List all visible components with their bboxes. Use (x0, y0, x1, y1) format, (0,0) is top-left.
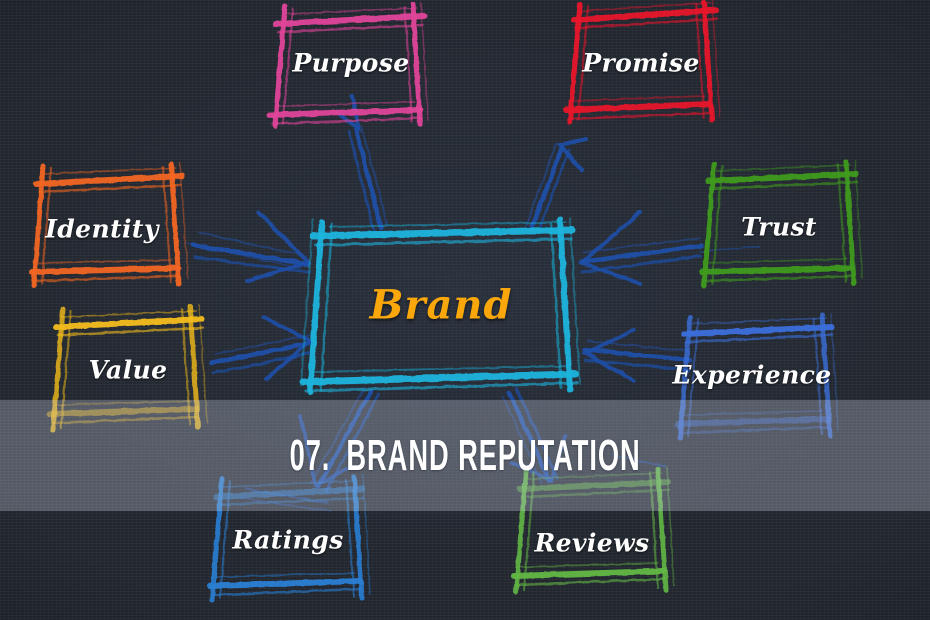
title-banner: 07.BRAND REPUTATION (0, 400, 930, 511)
node-label-purpose: Purpose (292, 49, 409, 78)
node-label-promise: Promise (582, 49, 699, 78)
slide-canvas: Brand Purpose Promise Identity Trust Val… (0, 0, 930, 620)
banner-title: BRAND REPUTATION (346, 431, 640, 480)
banner-title-text: 07.BRAND REPUTATION (289, 434, 640, 478)
node-label-identity: Identity (45, 215, 159, 244)
node-label-trust: Trust (741, 213, 817, 242)
node-label-experience: Experience (672, 361, 831, 390)
node-label-brand: Brand (370, 282, 513, 329)
node-label-ratings: Ratings (232, 526, 343, 555)
node-label-value: Value (89, 356, 168, 385)
banner-number: 07. (289, 431, 330, 480)
node-label-reviews: Reviews (534, 529, 649, 558)
